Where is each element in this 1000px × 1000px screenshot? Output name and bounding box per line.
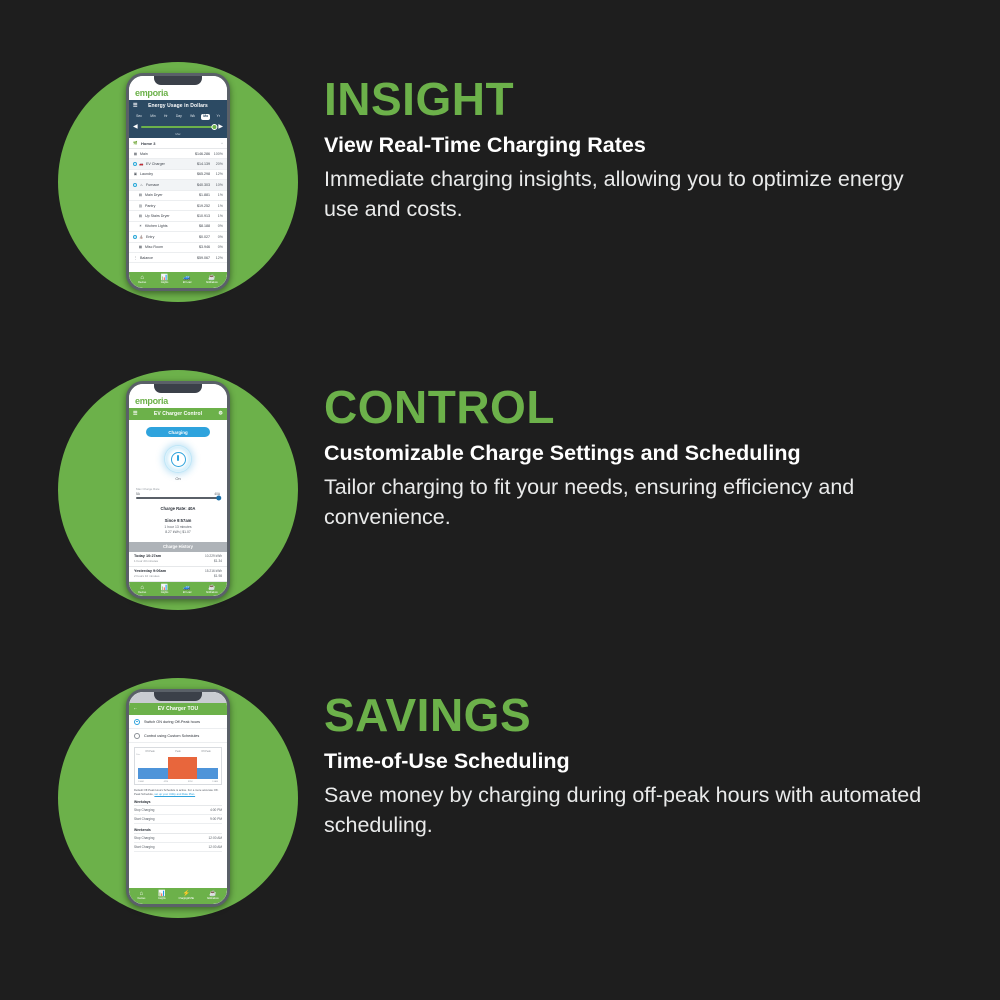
device-name: Furnace: [146, 183, 190, 187]
emporia-logo: emporia: [135, 397, 168, 406]
phone-notch: [154, 384, 202, 393]
fridge-icon: ▥: [138, 203, 143, 208]
table-row[interactable]: ⋮ Balance $59.067 12%: [129, 253, 227, 263]
power-icon[interactable]: [171, 452, 186, 467]
legend-peak: Peak: [175, 750, 180, 753]
feature-blurb: Tailor charging to fit your needs, ensur…: [324, 472, 934, 533]
phone-mockup-tou-schedule: ← EV Charger TOU Switch ON during Off-Pe…: [126, 689, 230, 907]
nav-item-devices[interactable]: ⌂ Devices: [137, 891, 145, 900]
feature-section-insight: emporia ☰ Energy Usage in Dollars Sec Mi…: [0, 62, 1000, 302]
table-row[interactable]: ▦ Misc Room $3.946 0%: [129, 243, 227, 253]
tab-mo[interactable]: Mo: [201, 114, 210, 119]
device-name: Main Dryer: [145, 193, 190, 197]
device-value: $146.286: [192, 152, 210, 156]
device-usage-list: 🌿 Home 3 ^ ▦ Main $146.286 100% 🚗 EV Cha…: [129, 138, 227, 272]
app-brand-bar: emporia: [129, 87, 227, 100]
nav-label: EV Load: [183, 592, 191, 594]
nav-item-insights[interactable]: 📊 Insights: [158, 891, 165, 900]
chevron-up-icon[interactable]: ^: [221, 141, 223, 146]
device-pct: 1%: [212, 193, 223, 197]
status-badge[interactable]: Charging: [146, 427, 210, 437]
door-icon: ⛪: [139, 234, 144, 239]
phone-mockup-energy-usage: emporia ☰ Energy Usage in Dollars Sec Mi…: [126, 73, 230, 291]
device-value: $19.252: [192, 204, 210, 208]
device-name: Laundry: [140, 172, 190, 176]
radio-option-offpeak[interactable]: Switch ON during Off-Peak hours: [129, 715, 227, 729]
history-kwh: 15.216 kWh: [205, 569, 222, 573]
device-pct: 20%: [212, 162, 223, 166]
table-row[interactable]: ▥ Pantry $19.252 1%: [129, 201, 227, 211]
nav-item-notifications[interactable]: ☕ Notifications: [206, 275, 218, 284]
legend-offpeak-left: Off-Peak: [145, 750, 154, 753]
nav-label: Devices: [138, 592, 146, 594]
home-label: Home 3: [141, 141, 218, 146]
nav-label: Notifications: [206, 282, 218, 284]
time-range-tabs[interactable]: Sec Min Hr Day Wk Mo Yr: [129, 112, 227, 122]
nav-item-notifications[interactable]: ☕ Notifications: [206, 585, 218, 594]
feature-section-savings: ← EV Charger TOU Switch ON during Off-Pe…: [0, 678, 1000, 918]
schedule-value: 4:00 PM: [210, 808, 222, 812]
leaf-icon: 🌿: [133, 141, 138, 146]
schedule-value: 12:00 AM: [209, 845, 222, 849]
history-cost: $1.34: [214, 559, 222, 563]
device-value: $10.913: [192, 214, 210, 218]
device-name: EV Charger: [146, 162, 190, 166]
flame-icon: ♨: [139, 182, 144, 187]
table-row[interactable]: ♨ Furnace $40.303 10%: [129, 180, 227, 190]
bottom-nav[interactable]: ⌂ Devices 📊 Insights 🚙 EV Load ☕ Notific…: [129, 582, 227, 596]
radio-unselected-icon[interactable]: [134, 733, 140, 739]
nav-label: Notifications: [206, 592, 218, 594]
charger-control-body: Charging On Max Charge Rate 5A 40A: [129, 420, 227, 582]
bell-icon: ☕: [208, 585, 215, 591]
device-pct: 0%: [212, 245, 223, 249]
schedule-row[interactable]: Start Charging 9:00 PM: [134, 815, 222, 824]
since-text: Since 9:57am: [165, 518, 192, 523]
list-item[interactable]: Yesterday 9:06am 2 hours 10 minutes 15.2…: [129, 567, 227, 582]
device-value: $3.946: [192, 245, 210, 249]
app-header-energy: ☰ Energy Usage in Dollars: [129, 100, 227, 112]
app-brand-bar: emporia: [129, 395, 227, 408]
tou-note: Default Off-Peak Hours Schedule is activ…: [134, 788, 222, 796]
schedule-label: Stop Charging: [134, 836, 154, 840]
history-kwh: 10.229 kWh: [205, 554, 222, 558]
scrubber-caption: Mar: [175, 132, 180, 136]
nav-label: Insights: [161, 282, 168, 284]
device-value: $1.881: [192, 193, 210, 197]
device-name: Pantry: [145, 204, 190, 208]
history-duration: 1 hour 23 minutes: [134, 559, 161, 563]
hamburger-icon[interactable]: ☰: [133, 104, 138, 109]
bottom-nav[interactable]: ⌂ Devices 📊 Insights 🚙 EV Load ☕ Notific…: [129, 272, 227, 288]
tab-sec[interactable]: Sec: [134, 114, 144, 119]
tick-label: 9PM: [188, 781, 193, 783]
slider-knob[interactable]: [216, 495, 221, 500]
hamburger-icon[interactable]: ☰: [133, 412, 138, 417]
feature-copy-savings: SAVINGS Time-of-Use Scheduling Save mone…: [324, 678, 1000, 841]
energy-text: 8.27 kWh | $1.07: [165, 530, 191, 534]
gear-icon[interactable]: ⚙: [218, 412, 223, 417]
option-label: Switch ON during Off-Peak hours: [144, 720, 200, 724]
chart-bar-offpeak-1: [138, 768, 168, 779]
schedule-value: 12:00 AM: [209, 836, 222, 840]
slider-min-label: 5A: [136, 492, 140, 496]
slider-label: Max Charge Rate: [136, 487, 220, 491]
table-row[interactable]: ☀ Kitchen Lights $8.188 0%: [129, 222, 227, 232]
bulb-icon: ☀: [138, 224, 143, 229]
feature-blurb: Save money by charging during off-peak h…: [324, 780, 934, 841]
back-arrow-icon[interactable]: ←: [133, 707, 138, 712]
feature-kicker: CONTROL: [324, 384, 1000, 431]
device-name: Balance: [140, 256, 190, 260]
table-row[interactable]: ▤ Main Dryer $1.881 1%: [129, 191, 227, 201]
device-name: Misc Room: [145, 245, 190, 249]
chart-icon: 📊: [161, 585, 168, 591]
nav-item-notifications[interactable]: ☕ Notifications: [207, 891, 219, 900]
tou-body: Switch ON during Off-Peak hours Control …: [129, 715, 227, 888]
device-value: $59.067: [192, 256, 210, 260]
nav-label: Notifications: [207, 898, 219, 900]
circle-toggle-icon[interactable]: [133, 183, 137, 187]
feature-subhead: Customizable Charge Settings and Schedul…: [324, 440, 1000, 467]
device-pct: 0%: [212, 224, 223, 228]
home-header-row[interactable]: 🌿 Home 3 ^: [129, 138, 227, 149]
schedule-row[interactable]: Start Charging 12:00 AM: [134, 843, 222, 852]
table-row[interactable]: 🚗 EV Charger $14.139 20%: [129, 159, 227, 169]
chart-xaxis: 12AM 4PM 9PM 12AM: [138, 781, 218, 783]
schedule-label: Stop Charging: [134, 808, 154, 812]
device-name: Main: [140, 152, 190, 156]
history-time: Yesterday 9:06am: [134, 569, 166, 573]
nav-item-insights[interactable]: 📊 Insights: [161, 585, 168, 594]
app-header-control: ☰ EV Charger Control ⚙: [129, 408, 227, 420]
washer-icon: ▣: [133, 172, 138, 177]
app-title: Energy Usage in Dollars: [148, 103, 208, 109]
feature-kicker: SAVINGS: [324, 692, 1000, 739]
chart-bar-offpeak-2: [197, 768, 218, 779]
device-name: Up Stairs Dryer: [145, 214, 190, 218]
device-value: $8.188: [192, 224, 210, 228]
option-label: Control using Custom Schedules: [144, 734, 199, 738]
table-row[interactable]: ▦ Main $146.286 100%: [129, 149, 227, 159]
schedule-label: Start Charging: [134, 817, 155, 821]
chart-bar-peak: [168, 757, 197, 779]
scrubber-knob[interactable]: [212, 124, 218, 130]
feature-kicker: INSIGHT: [324, 76, 1000, 123]
nav-label: Insights: [158, 898, 165, 900]
history-time: Today 10:27am: [134, 554, 161, 558]
charge-history-header: Charge History: [129, 542, 227, 552]
duration-text: 1 hour 13 minutes: [164, 525, 191, 529]
date-scrubber[interactable]: ◀ ▶ Mar: [129, 122, 227, 138]
device-name: Kitchen Lights: [145, 224, 190, 228]
nav-item-ev-load[interactable]: 🚙 EV Load: [183, 275, 191, 284]
grid-icon: ▦: [138, 245, 143, 250]
tab-yr[interactable]: Yr: [214, 114, 221, 119]
emporia-logo: emporia: [135, 89, 168, 98]
schedule-row[interactable]: Stop Charging 4:00 PM: [134, 806, 222, 815]
scrubber-track[interactable]: [141, 126, 216, 129]
dryer-icon: ▤: [138, 214, 143, 219]
nav-label: EV Load: [183, 282, 191, 284]
nav-label: Devices: [137, 898, 145, 900]
table-row[interactable]: ⛪ Entry $0.027 0%: [129, 232, 227, 242]
chart-bars: [138, 757, 218, 779]
tab-wk[interactable]: Wk: [188, 114, 197, 119]
content-spacer: [129, 852, 227, 888]
tick-label: 12AM: [212, 781, 218, 783]
device-pct: 0%: [212, 235, 223, 239]
nav-label: Insights: [161, 592, 168, 594]
chart-legend: Off-Peak Peak Off-Peak: [135, 750, 221, 753]
dryer-icon: ▤: [138, 193, 143, 198]
bottom-nav[interactable]: ⌂ Devices 📊 Insights ⚡ Charging/EVSE ☕ N…: [129, 888, 227, 904]
feature-section-control: emporia ☰ EV Charger Control ⚙ Charging …: [0, 370, 1000, 610]
phone-badge-control: emporia ☰ EV Charger Control ⚙ Charging …: [58, 370, 298, 610]
circle-toggle-icon[interactable]: [133, 162, 137, 166]
phone-badge-savings: ← EV Charger TOU Switch ON during Off-Pe…: [58, 678, 298, 918]
device-pct: 12%: [212, 172, 223, 176]
phone-notch: [154, 76, 202, 85]
device-value: $40.303: [192, 183, 210, 187]
device-pct: 1%: [212, 204, 223, 208]
play-left-icon[interactable]: ◀: [133, 124, 138, 130]
nav-label: Devices: [138, 282, 146, 284]
schedule-row[interactable]: Stop Charging 12:00 AM: [134, 834, 222, 843]
feature-subhead: Time-of-Use Scheduling: [324, 748, 1000, 775]
tab-day[interactable]: Day: [174, 114, 184, 119]
legend-offpeak-right: Off-Peak: [201, 750, 210, 753]
feature-blurb: Immediate charging insights, allowing yo…: [324, 164, 934, 225]
nav-item-devices[interactable]: ⌂ Devices: [138, 275, 146, 284]
device-value: $0.027: [192, 235, 210, 239]
app-title: EV Charger TOU: [158, 706, 198, 712]
feature-copy-insight: INSIGHT View Real-Time Charging Rates Im…: [324, 62, 1000, 225]
schedule-label: Start Charging: [134, 845, 155, 849]
charge-rate-text: Charge Rate: 40A: [161, 506, 196, 511]
device-pct: 10%: [212, 183, 223, 187]
feature-subhead: View Real-Time Charging Rates: [324, 132, 1000, 159]
tab-min[interactable]: Min: [148, 114, 157, 119]
nav-label: Charging/EVSE: [178, 898, 193, 900]
chart-ylabel: Rate: [136, 754, 140, 756]
tou-rate-chart: Off-Peak Peak Off-Peak Rate 12AM 4P: [134, 747, 222, 785]
app-title: EV Charger Control: [154, 411, 202, 417]
tab-hr[interactable]: Hr: [162, 114, 170, 119]
device-value: $65.298: [192, 172, 210, 176]
radio-selected-icon[interactable]: [134, 719, 140, 725]
nav-item-ev-load[interactable]: 🚙 EV Load: [183, 585, 191, 594]
slider-track[interactable]: [136, 497, 220, 499]
tick-label: 4PM: [164, 781, 169, 783]
ev-icon: 🚙: [183, 585, 190, 591]
tick-label: 12AM: [138, 781, 144, 783]
play-right-icon[interactable]: ▶: [218, 124, 223, 130]
device-pct: 12%: [212, 256, 223, 260]
device-value: $14.139: [192, 162, 210, 166]
feature-copy-control: CONTROL Customizable Charge Settings and…: [324, 370, 1000, 533]
device-pct: 100%: [212, 152, 223, 156]
device-name: Entry: [146, 235, 190, 239]
table-row[interactable]: ▤ Up Stairs Dryer $10.913 1%: [129, 211, 227, 221]
radio-option-custom[interactable]: Control using Custom Schedules: [129, 729, 227, 743]
circle-toggle-icon[interactable]: [133, 235, 137, 239]
nav-item-charging[interactable]: ⚡ Charging/EVSE: [178, 891, 193, 900]
phone-badge-insight: emporia ☰ Energy Usage in Dollars Sec Mi…: [58, 62, 298, 302]
nav-item-devices[interactable]: ⌂ Devices: [138, 585, 146, 594]
utility-rate-plan-link[interactable]: set up your Utility and Rate Plan.: [154, 792, 195, 796]
list-item[interactable]: Today 10:27am 1 hour 23 minutes 10.229 k…: [129, 552, 227, 567]
history-duration: 2 hours 10 minutes: [134, 574, 166, 578]
history-cost: $1.98: [214, 574, 222, 578]
max-charge-rate-slider[interactable]: Max Charge Rate 5A 40A: [136, 487, 220, 499]
meter-icon: ▦: [133, 151, 138, 156]
balance-icon: ⋮: [133, 255, 138, 260]
app-header-tou: ← EV Charger TOU: [129, 703, 227, 715]
table-row[interactable]: ▣ Laundry $65.298 12%: [129, 170, 227, 180]
nav-item-insights[interactable]: 📊 Insights: [161, 275, 168, 284]
schedule-value: 9:00 PM: [210, 817, 222, 821]
device-pct: 1%: [212, 214, 223, 218]
home-icon: ⌂: [140, 585, 144, 591]
power-state-label: On: [175, 476, 180, 481]
car-icon: 🚗: [139, 162, 144, 167]
power-toggle[interactable]: [165, 446, 191, 472]
phone-notch: [154, 692, 202, 701]
phone-mockup-charger-control: emporia ☰ EV Charger Control ⚙ Charging …: [126, 381, 230, 599]
